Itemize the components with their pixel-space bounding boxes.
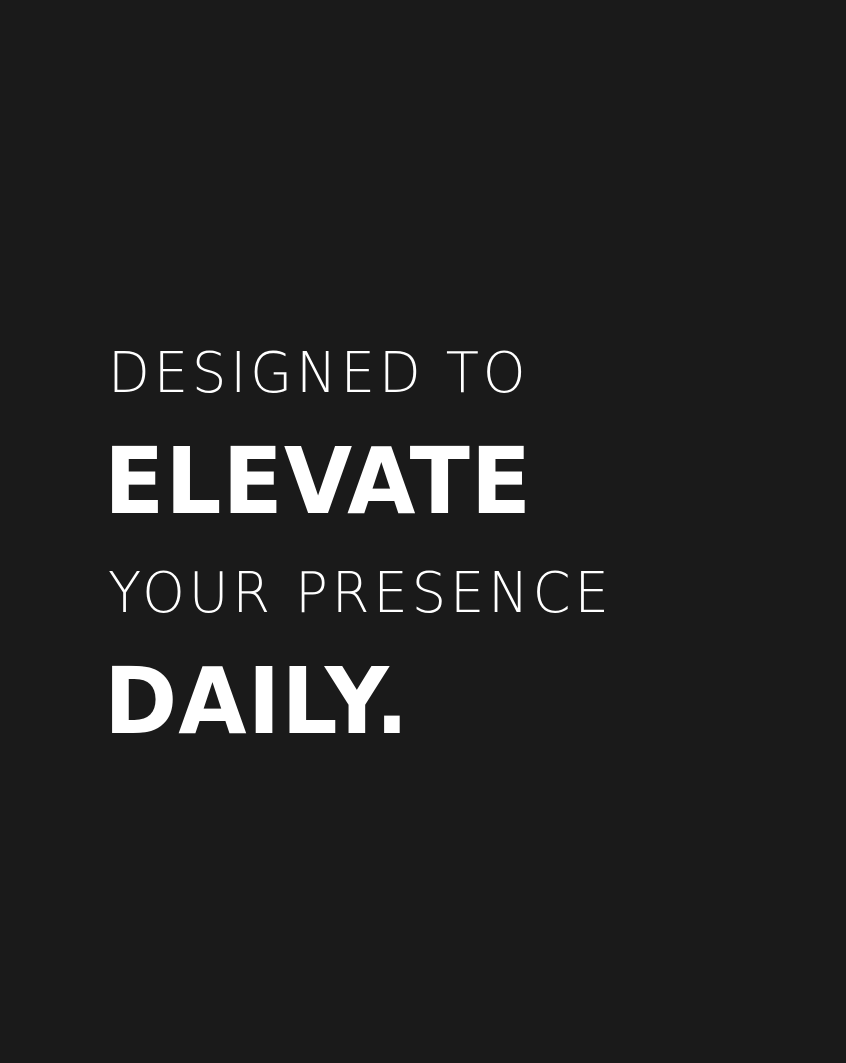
headline-line-1: DESIGNED TO: [108, 346, 768, 402]
headline-line-4: DAILY.: [104, 656, 761, 748]
headline-line-2: ELEVATE: [104, 436, 761, 528]
poster-canvas: DESIGNED TO ELEVATE YOUR PRESENCE DAILY.: [0, 0, 846, 1063]
headline-block: DESIGNED TO ELEVATE YOUR PRESENCE DAILY.: [108, 346, 788, 748]
headline-line-3: YOUR PRESENCE: [108, 566, 768, 622]
